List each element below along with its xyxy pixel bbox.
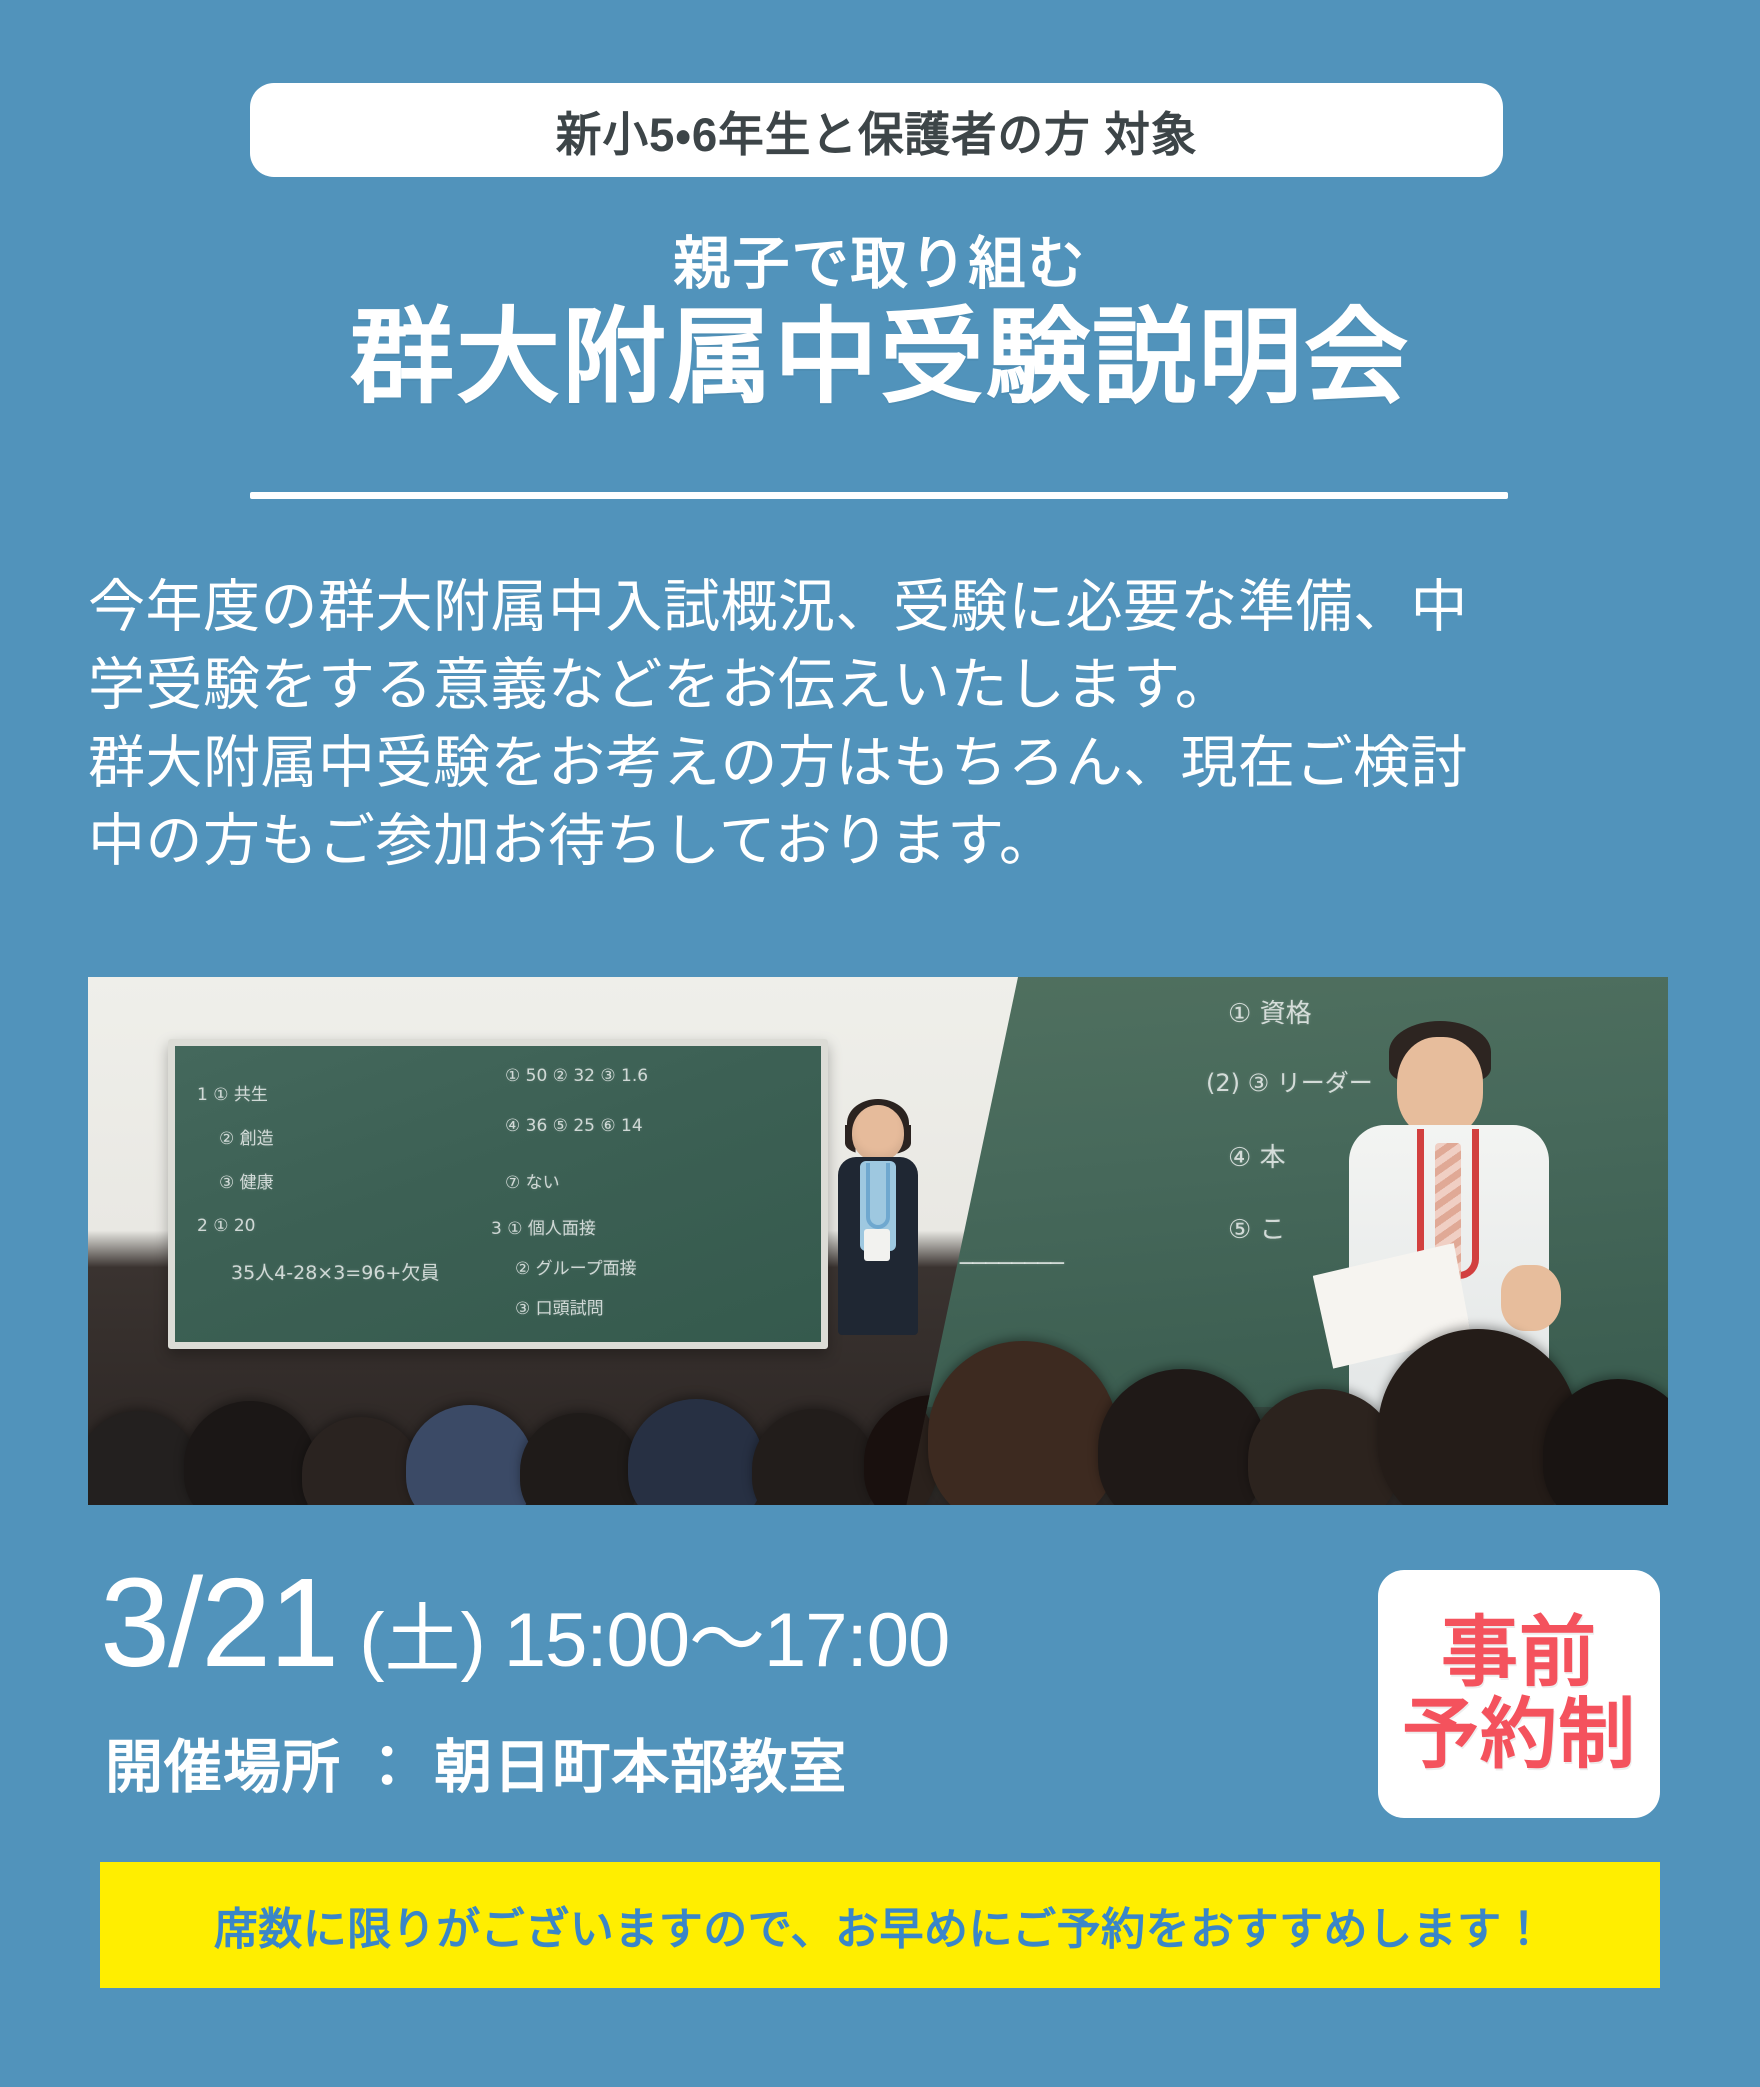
title-divider (250, 492, 1508, 499)
poster-subtitle: 親子で取り組む (0, 218, 1760, 300)
target-audience-badge: 新小5・6年生と保護者の方 対象 (250, 83, 1503, 177)
event-date: 3/21 (100, 1560, 337, 1686)
seating-note-text: 席数に限りがございますので、お早めにご予約をおすすめします！ (214, 1893, 1546, 1957)
presenter-lanyard (866, 1163, 890, 1229)
reservation-line-2: 予約制 (1402, 1694, 1636, 1776)
audience-left (88, 1265, 1018, 1505)
description-block: 今年度の群大附属中入試概況、受験に必要な準備、中 学受験をする意義などをお伝えい… (88, 568, 1688, 880)
photo-female-presenter: 1 ① 共生 ② 創造 ③ 健康 2 ① 20 35人4-28×3=96+欠員 … (88, 977, 1018, 1505)
presenter-head (1397, 1037, 1483, 1137)
description-line-2: 学受験をする意義などをお伝えいたします。 (88, 646, 1688, 724)
description-line-3: 群大附属中受験をお考えの方はもちろん、現在ご検討 (88, 724, 1688, 802)
presenter-id-badge (864, 1229, 890, 1261)
target-audience-label: 新小5・6年生と保護者の方 対象 (556, 96, 1197, 165)
event-time: 15:00〜17:00 (504, 1603, 949, 1679)
reservation-line-1: 事前 (1441, 1612, 1597, 1694)
seminar-photo-strip: 自主性 ライバル ④ 合格 ⑤ 目標 ________ ① 資格 (2) ③ リ… (88, 977, 1668, 1505)
seating-note-banner: 席数に限りがございますので、お早めにご予約をおすすめします！ (100, 1862, 1660, 1988)
presenter-head (852, 1105, 904, 1161)
description-line-1: 今年度の群大附属中入試概況、受験に必要な準備、中 (88, 568, 1688, 646)
reservation-required-badge: 事前 予約制 (1378, 1570, 1660, 1818)
seminar-poster: 新小5・6年生と保護者の方 対象 親子で取り組む 群大附属中受験説明会 今年度の… (0, 0, 1760, 2087)
event-day-of-week: (土) (359, 1603, 486, 1679)
description-line-4: 中の方もご参加お待ちしております。 (88, 802, 1688, 880)
poster-title: 群大附属中受験説明会 (0, 300, 1760, 416)
event-venue: 開催場所 ： 朝日町本部教室 (105, 1720, 847, 1804)
event-date-row: 3/21 (土) 15:00〜17:00 (100, 1560, 949, 1686)
